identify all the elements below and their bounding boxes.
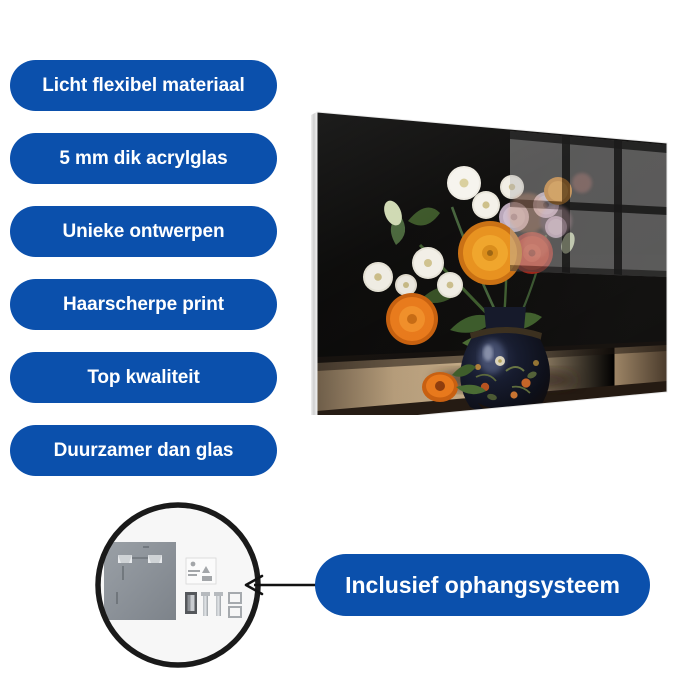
feature-badge-licht-flexibel-materiaal[interactable]: Licht flexibel materiaal <box>10 60 277 111</box>
feature-badge-haarscherpe-print[interactable]: Haarscherpe print <box>10 279 277 330</box>
glass-sheen <box>300 95 680 415</box>
feature-badge-duurzamer-dan-glas[interactable]: Duurzamer dan glas <box>10 425 277 476</box>
feature-badge-top-kwaliteit[interactable]: Top kwaliteit <box>10 352 277 403</box>
feature-badge-5-mm-dik-acrylglas[interactable]: 5 mm dik acrylglas <box>10 133 277 184</box>
callout-badge-inclusief-ophangsysteem[interactable]: Inclusief ophangsysteem <box>315 554 650 616</box>
panel-thickness-edge <box>311 112 317 415</box>
product-feature-sheet: Licht flexibel materiaal 5 mm dik acrylg… <box>0 0 700 700</box>
acrylic-glass-panel <box>300 95 680 415</box>
artwork-surface <box>300 95 680 415</box>
acrylic-panel-illustration <box>300 95 680 415</box>
mounting-plate <box>104 542 176 620</box>
feature-badge-unieke-ontwerpen[interactable]: Unieke ontwerpen <box>10 206 277 257</box>
